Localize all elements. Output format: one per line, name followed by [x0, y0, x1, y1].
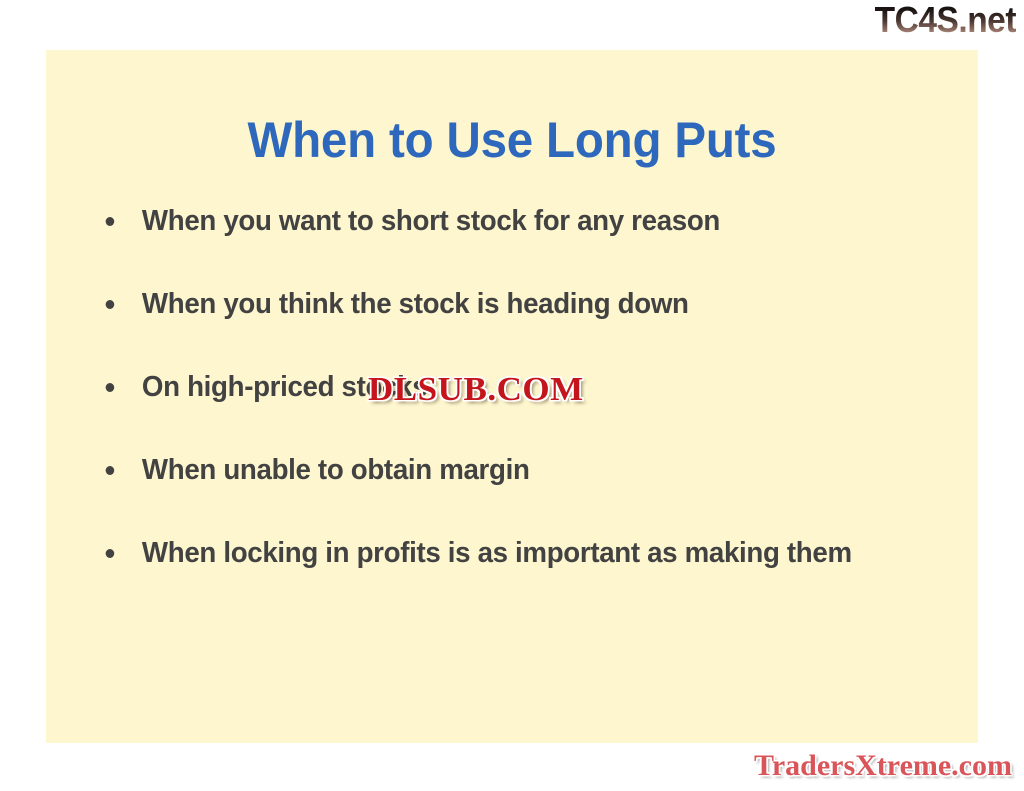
- list-item-label: When you want to short stock for any rea…: [142, 202, 906, 240]
- list-item-label: When unable to obtain margin: [142, 451, 906, 489]
- page-title: When to Use Long Puts: [69, 112, 954, 168]
- tradersxtreme-logo: TradersXtreme.com: [754, 749, 1012, 783]
- tc4s-logo: TC4S.net: [875, 0, 1016, 40]
- bullet-dot-icon: [106, 466, 115, 475]
- bullet-dot-icon: [106, 217, 115, 226]
- slide-page: { "branding": { "top_logo": "TC4S.net", …: [0, 0, 1024, 791]
- list-item-label: When you think the stock is heading down: [142, 285, 906, 323]
- list-item: When locking in profits is as important …: [98, 534, 919, 572]
- list-item: When you want to short stock for any rea…: [98, 202, 919, 240]
- list-item: When unable to obtain margin: [98, 451, 919, 489]
- bullet-dot-icon: [106, 549, 115, 558]
- list-item-label: When locking in profits is as important …: [142, 534, 906, 572]
- bullet-dot-icon: [106, 383, 115, 392]
- bullet-dot-icon: [106, 300, 115, 309]
- dlsub-watermark: DLSUB.COM: [368, 371, 584, 409]
- list-item: When you think the stock is heading down: [98, 285, 919, 323]
